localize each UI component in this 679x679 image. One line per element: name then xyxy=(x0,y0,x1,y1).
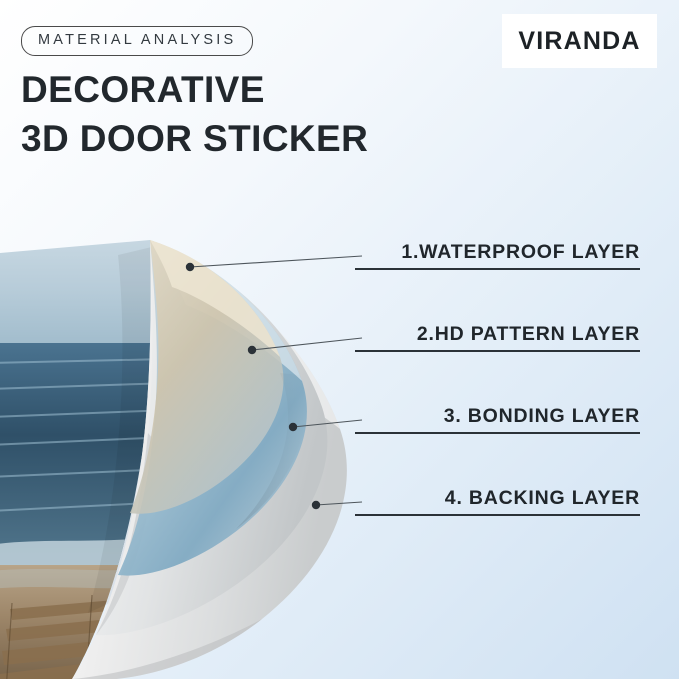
eyebrow-label: MATERIAL ANALYSIS xyxy=(38,32,236,48)
poster-canvas: MATERIAL ANALYSIS DECORATIVE 3D DOOR STI… xyxy=(0,0,679,679)
page-title-line-1: DECORATIVE xyxy=(21,66,368,115)
callout-waterproof-layer: 1.WATERPROOF LAYER xyxy=(355,226,640,270)
callout-label: 4. BACKING LAYER xyxy=(445,487,640,514)
brand-logo-box: VIRANDA xyxy=(502,14,657,68)
page-title: DECORATIVE 3D DOOR STICKER xyxy=(21,66,368,164)
callout-hd-pattern-layer: 2.HD PATTERN LAYER xyxy=(355,308,640,352)
callout-label: 3. BONDING LAYER xyxy=(444,405,640,432)
brand-name: VIRANDA xyxy=(518,27,640,56)
page-title-line-2: 3D DOOR STICKER xyxy=(21,115,368,164)
callout-bonding-layer: 3. BONDING LAYER xyxy=(355,390,640,434)
callout-label: 1.WATERPROOF LAYER xyxy=(401,241,640,268)
eyebrow-badge: MATERIAL ANALYSIS xyxy=(21,26,253,56)
callout-backing-layer: 4. BACKING LAYER xyxy=(355,472,640,516)
callout-label: 2.HD PATTERN LAYER xyxy=(417,323,640,350)
